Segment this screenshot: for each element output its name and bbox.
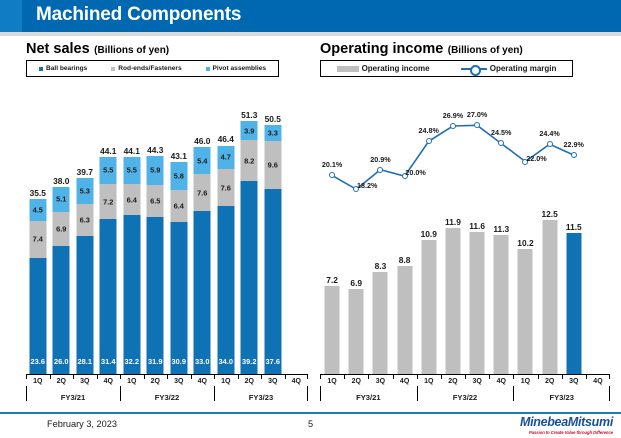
net-sales-bar-group[interactable]: 33.07.65.446.0 [191, 82, 215, 374]
axis-quarter-label: 4Q [489, 374, 513, 389]
axis-fiscal-year-label: FY3/23 [214, 389, 308, 405]
net-sales-segment-value: 23.6 [31, 357, 45, 366]
net-sales-segment: 9.6 [264, 141, 281, 188]
operating-income-bar-group[interactable]: 7.2 [320, 82, 344, 374]
legend-item-pivot-assemblies: Pivot assemblies [206, 65, 267, 72]
operating-income-legend: Operating income Operating margin [320, 60, 573, 77]
operating-income-bar[interactable]: 11.5 [566, 233, 581, 374]
net-sales-segment: 5.8 [170, 162, 187, 191]
operating-income-bar-group[interactable]: 11.3 [489, 82, 513, 374]
net-sales-segment: 7.4 [29, 221, 46, 257]
operating-income-bar-label: 11.9 [445, 217, 461, 227]
legend-item-ball-bearings: Ball bearings [39, 65, 87, 72]
axis-quarter-label: 3Q [368, 374, 392, 389]
operating-income-bar-group[interactable]: 11.9 [441, 82, 465, 374]
operating-income-bar-group[interactable]: 12.5 [538, 82, 562, 374]
legend-label-ball-bearings: Ball bearings [46, 65, 87, 72]
operating-income-bar-label: 8.8 [399, 255, 411, 265]
net-sales-segment: 30.9 [170, 222, 187, 374]
company-logo: MinebeaMitsumi Passion to Create Value t… [520, 415, 613, 435]
operating-income-bar-label: 11.6 [469, 221, 485, 231]
operating-income-bar-label: 8.3 [375, 261, 387, 271]
net-sales-bar-group[interactable]: 31.47.25.544.1 [97, 82, 121, 374]
operating-income-bar[interactable]: 8.3 [373, 272, 388, 374]
net-sales-segment: 33.0 [194, 211, 211, 374]
axis-quarter-label: 4Q [393, 374, 417, 389]
axis-quarter-label: 1Q [320, 374, 344, 389]
net-sales-segment-value: 28.1 [78, 357, 92, 366]
net-sales-segment-value: 6.4 [174, 201, 184, 210]
axis-quarter-label: 4Q [97, 374, 121, 389]
net-sales-segment-value: 31.9 [148, 357, 162, 366]
operating-income-bar-group[interactable]: 10.2 [513, 82, 537, 374]
net-sales-fiscal-year-row: FY3/21FY3/22FY3/23 [26, 389, 308, 405]
axis-quarter-label: 3Q [167, 374, 191, 389]
header-accent-bar [0, 0, 22, 32]
axis-quarter-label: 3Q [261, 374, 285, 389]
net-sales-segment: 5.5 [123, 157, 140, 184]
axis-fiscal-year-label: FY3/21 [26, 389, 120, 405]
net-sales-segment: 5.1 [53, 187, 70, 212]
net-sales-stacked-bar[interactable]: 28.16.35.339.7 [76, 178, 93, 374]
axis-fiscal-year-label: FY3/23 [513, 389, 610, 405]
operating-income-bar[interactable]: 12.5 [542, 220, 557, 374]
net-sales-segment: 6.4 [170, 190, 187, 222]
net-sales-segment-value: 32.2 [125, 357, 139, 366]
operating-income-title-main: Operating income [320, 41, 443, 57]
header-underline [0, 32, 621, 36]
net-sales-quarter-row: 1Q2Q3Q4Q1Q2Q3Q4Q1Q2Q3Q4Q [26, 374, 308, 389]
net-sales-segment-value: 7.2 [103, 197, 113, 206]
net-sales-segment: 7.2 [100, 184, 117, 219]
net-sales-total-label: 46.4 [218, 134, 234, 144]
axis-quarter-label: 1Q [120, 374, 144, 389]
legend-item-operating-margin: Operating margin [461, 64, 557, 73]
net-sales-stacked-bar[interactable]: 31.47.25.544.1 [100, 157, 117, 374]
net-sales-stacked-bar[interactable]: 32.26.45.544.1 [123, 157, 140, 374]
net-sales-stacked-bar[interactable]: 34.07.64.746.4 [217, 145, 234, 374]
axis-quarter-label: 2Q [238, 374, 262, 389]
net-sales-segment: 4.5 [29, 199, 46, 221]
slide: Machined Components Net sales (Billions … [0, 0, 621, 438]
page-title: Machined Components [36, 4, 241, 26]
net-sales-total-label: 43.1 [171, 151, 187, 161]
net-sales-segment-value: 5.3 [80, 187, 90, 196]
operating-income-panel: Operating income (Billions of yen) Opera… [312, 40, 612, 408]
net-sales-segment: 7.6 [194, 174, 211, 211]
net-sales-total-label: 35.5 [30, 188, 46, 198]
footer-divider [0, 412, 621, 414]
operating-income-bar-group[interactable]: 11.6 [465, 82, 489, 374]
net-sales-total-label: 44.1 [100, 146, 116, 156]
operating-income-axis: 1Q2Q3Q4Q1Q2Q3Q4Q1Q2Q3Q4Q FY3/21FY3/22FY3… [320, 374, 610, 408]
net-sales-segment-value: 30.9 [172, 357, 186, 366]
operating-income-bar-label: 10.2 [517, 238, 533, 248]
operating-income-bar-label: 12.5 [541, 209, 557, 219]
net-sales-stacked-bar[interactable]: 31.96.55.944.3 [147, 156, 164, 374]
legend-label-rod-ends-fasteners: Rod-ends/Fasteners [118, 65, 181, 72]
axis-quarter-label: 4Q [191, 374, 215, 389]
axis-quarter-label: 2Q [50, 374, 74, 389]
operating-income-plot: 7.26.98.38.810.911.911.611.310.212.511.5… [320, 82, 610, 374]
axis-quarter-label: 2Q [538, 374, 562, 389]
net-sales-stacked-bar[interactable]: 33.07.65.446.0 [194, 147, 211, 374]
net-sales-segment: 6.9 [53, 212, 70, 246]
net-sales-segment-value: 8.2 [244, 156, 254, 165]
operating-income-bar[interactable]: 11.6 [470, 232, 485, 375]
axis-quarter-label: 1Q [214, 374, 238, 389]
operating-income-bar-label: 10.9 [421, 229, 437, 239]
net-sales-segment: 34.0 [217, 206, 234, 374]
net-sales-segment-value: 7.4 [33, 235, 43, 244]
company-logo-tagline: Passion to Create Value through Differen… [520, 430, 613, 435]
company-logo-name: MinebeaMitsumi [520, 415, 613, 429]
net-sales-segment-value: 5.1 [56, 195, 66, 204]
axis-quarter-label: 2Q [144, 374, 168, 389]
net-sales-total-label: 44.3 [147, 145, 163, 155]
net-sales-stacked-bar[interactable]: 39.28.23.951.3 [241, 121, 258, 374]
axis-quarter-label: 1Q [417, 374, 441, 389]
net-sales-segment: 28.1 [76, 236, 93, 374]
net-sales-segment: 4.7 [217, 146, 234, 169]
net-sales-segment-value: 34.0 [219, 357, 233, 366]
axis-quarter-label: 1Q [513, 374, 537, 389]
axis-quarter-label: 3Q [73, 374, 97, 389]
axis-fiscal-year-label: FY3/21 [320, 389, 417, 405]
net-sales-bar-group[interactable] [285, 82, 309, 374]
operating-income-fiscal-year-row: FY3/21FY3/22FY3/23 [320, 389, 610, 405]
axis-quarter-label: 2Q [441, 374, 465, 389]
net-sales-bar-group[interactable]: 28.16.35.339.7 [73, 82, 97, 374]
net-sales-segment-value: 5.4 [197, 156, 207, 165]
legend-swatch-rod-ends-fasteners [111, 67, 115, 71]
operating-income-bar-group[interactable]: 6.9 [344, 82, 368, 374]
axis-quarter-label: 4Q [285, 374, 309, 389]
net-sales-segment: 3.3 [264, 125, 281, 141]
axis-quarter-label: 4Q [586, 374, 610, 389]
net-sales-segment-value: 3.3 [268, 129, 278, 138]
net-sales-segment-value: 26.0 [54, 357, 68, 366]
operating-income-bar[interactable]: 10.2 [518, 249, 533, 374]
axis-fiscal-year-label: FY3/22 [120, 389, 214, 405]
axis-quarter-label: 3Q [465, 374, 489, 389]
net-sales-segment: 26.0 [53, 246, 70, 374]
net-sales-plot: 23.67.44.535.526.06.95.138.028.16.35.339… [26, 82, 308, 374]
net-sales-bars: 23.67.44.535.526.06.95.138.028.16.35.339… [26, 82, 308, 374]
net-sales-segment-value: 37.6 [266, 357, 280, 366]
axis-quarter-label: 2Q [344, 374, 368, 389]
legend-swatch-pivot-assemblies [206, 67, 210, 71]
net-sales-segment: 5.3 [76, 178, 93, 204]
operating-income-bar-group[interactable] [586, 82, 610, 374]
net-sales-segment-value: 4.5 [33, 206, 43, 215]
net-sales-segment-value: 5.5 [103, 166, 113, 175]
net-sales-segment-value: 7.6 [221, 183, 231, 192]
operating-income-quarter-row: 1Q2Q3Q4Q1Q2Q3Q4Q1Q2Q3Q4Q [320, 374, 610, 389]
net-sales-segment-value: 5.8 [174, 171, 184, 180]
axis-quarter-label: 1Q [26, 374, 50, 389]
operating-income-bar-group[interactable]: 10.9 [417, 82, 441, 374]
operating-income-bar[interactable]: 10.9 [421, 240, 436, 374]
operating-income-title: Operating income (Billions of yen) [320, 40, 523, 58]
net-sales-segment-value: 9.6 [268, 161, 278, 170]
operating-income-bar-label: 11.5 [566, 222, 582, 232]
net-sales-segment-value: 39.2 [242, 357, 256, 366]
net-sales-segment: 37.6 [264, 189, 281, 374]
operating-income-bar-label: 11.3 [493, 224, 509, 234]
net-sales-segment: 32.2 [123, 215, 140, 374]
legend-swatch-operating-income [337, 66, 359, 72]
operating-income-bar-label: 6.9 [350, 278, 362, 288]
net-sales-total-label: 51.3 [241, 110, 257, 120]
operating-income-bar[interactable]: 11.3 [494, 235, 509, 374]
net-sales-stacked-bar[interactable]: 23.67.44.535.5 [29, 199, 46, 374]
net-sales-bar-group[interactable]: 26.06.95.138.0 [50, 82, 74, 374]
net-sales-total-label: 38.0 [53, 176, 69, 186]
net-sales-title-main: Net sales [26, 41, 90, 57]
net-sales-segment-value: 6.4 [127, 195, 137, 204]
net-sales-segment: 5.5 [100, 157, 117, 184]
net-sales-segment-value: 6.5 [150, 196, 160, 205]
operating-income-bar-group[interactable]: 11.5 [562, 82, 586, 374]
operating-income-bar-group[interactable]: 8.3 [368, 82, 392, 374]
net-sales-bar-group[interactable]: 31.96.55.944.3 [144, 82, 168, 374]
net-sales-segment-value: 7.6 [197, 188, 207, 197]
net-sales-segment: 8.2 [241, 140, 258, 180]
net-sales-segment-value: 3.9 [244, 126, 254, 135]
net-sales-total-label: 46.0 [194, 136, 210, 146]
net-sales-segment: 7.6 [217, 169, 234, 206]
net-sales-segment: 5.9 [147, 156, 164, 185]
net-sales-segment: 6.3 [76, 204, 93, 235]
net-sales-bar-group[interactable]: 39.28.23.951.3 [238, 82, 262, 374]
legend-label-pivot-assemblies: Pivot assemblies [213, 65, 267, 72]
net-sales-segment-value: 33.0 [195, 357, 209, 366]
operating-income-bar[interactable]: 8.8 [397, 266, 412, 374]
net-sales-segment: 6.4 [123, 184, 140, 216]
operating-income-bar-group[interactable]: 8.8 [393, 82, 417, 374]
net-sales-panel: Net sales (Billions of yen) Ball bearing… [18, 40, 310, 408]
net-sales-segment: 39.2 [241, 181, 258, 374]
net-sales-title: Net sales (Billions of yen) [26, 40, 169, 58]
operating-income-bar-label: 7.2 [326, 275, 338, 285]
net-sales-segment-value: 4.7 [221, 153, 231, 162]
legend-swatch-ball-bearings [39, 67, 43, 71]
legend-label-operating-income: Operating income [362, 64, 430, 73]
operating-income-bar[interactable]: 7.2 [325, 286, 340, 374]
net-sales-title-unit: (Billions of yen) [94, 45, 169, 56]
net-sales-bar-group[interactable]: 34.07.64.746.4 [214, 82, 238, 374]
net-sales-segment: 3.9 [241, 121, 258, 140]
net-sales-segment-value: 31.4 [101, 357, 115, 366]
net-sales-stacked-bar[interactable]: 26.06.95.138.0 [53, 187, 70, 374]
net-sales-segment: 31.9 [147, 217, 164, 374]
axis-fiscal-year-label: FY3/22 [417, 389, 514, 405]
net-sales-bar-group[interactable]: 30.96.45.843.1 [167, 82, 191, 374]
net-sales-legend: Ball bearings Rod-ends/Fasteners Pivot a… [26, 60, 279, 77]
net-sales-segment: 6.5 [147, 185, 164, 217]
net-sales-segment-value: 5.5 [127, 166, 137, 175]
net-sales-segment-value: 6.3 [80, 215, 90, 224]
legend-label-operating-margin: Operating margin [490, 64, 557, 73]
operating-income-bars: 7.26.98.38.810.911.911.611.310.212.511.5 [320, 82, 610, 374]
net-sales-total-label: 44.1 [124, 146, 140, 156]
net-sales-segment: 5.4 [194, 147, 211, 174]
net-sales-total-label: 39.7 [77, 167, 93, 177]
legend-item-operating-income: Operating income [337, 64, 430, 73]
net-sales-segment-value: 6.9 [56, 224, 66, 233]
net-sales-axis: 1Q2Q3Q4Q1Q2Q3Q4Q1Q2Q3Q4Q FY3/21FY3/22FY3… [26, 374, 308, 408]
operating-income-title-unit: (Billions of yen) [448, 45, 523, 56]
legend-swatch-operating-margin [461, 65, 487, 73]
net-sales-bar-group[interactable]: 37.69.63.350.5 [261, 82, 285, 374]
net-sales-segment-value: 5.9 [150, 166, 160, 175]
net-sales-stacked-bar[interactable]: 30.96.45.843.1 [170, 162, 187, 374]
operating-income-bar[interactable]: 11.9 [445, 228, 460, 374]
operating-income-bar[interactable]: 6.9 [349, 289, 364, 374]
net-sales-segment: 23.6 [29, 258, 46, 374]
net-sales-segment: 31.4 [100, 219, 117, 374]
legend-item-rod-ends-fasteners: Rod-ends/Fasteners [111, 65, 181, 72]
net-sales-total-label: 50.5 [265, 114, 281, 124]
net-sales-bar-group[interactable]: 32.26.45.544.1 [120, 82, 144, 374]
net-sales-stacked-bar[interactable]: 37.69.63.350.5 [264, 125, 281, 374]
net-sales-bar-group[interactable]: 23.67.44.535.5 [26, 82, 50, 374]
axis-quarter-label: 3Q [562, 374, 586, 389]
